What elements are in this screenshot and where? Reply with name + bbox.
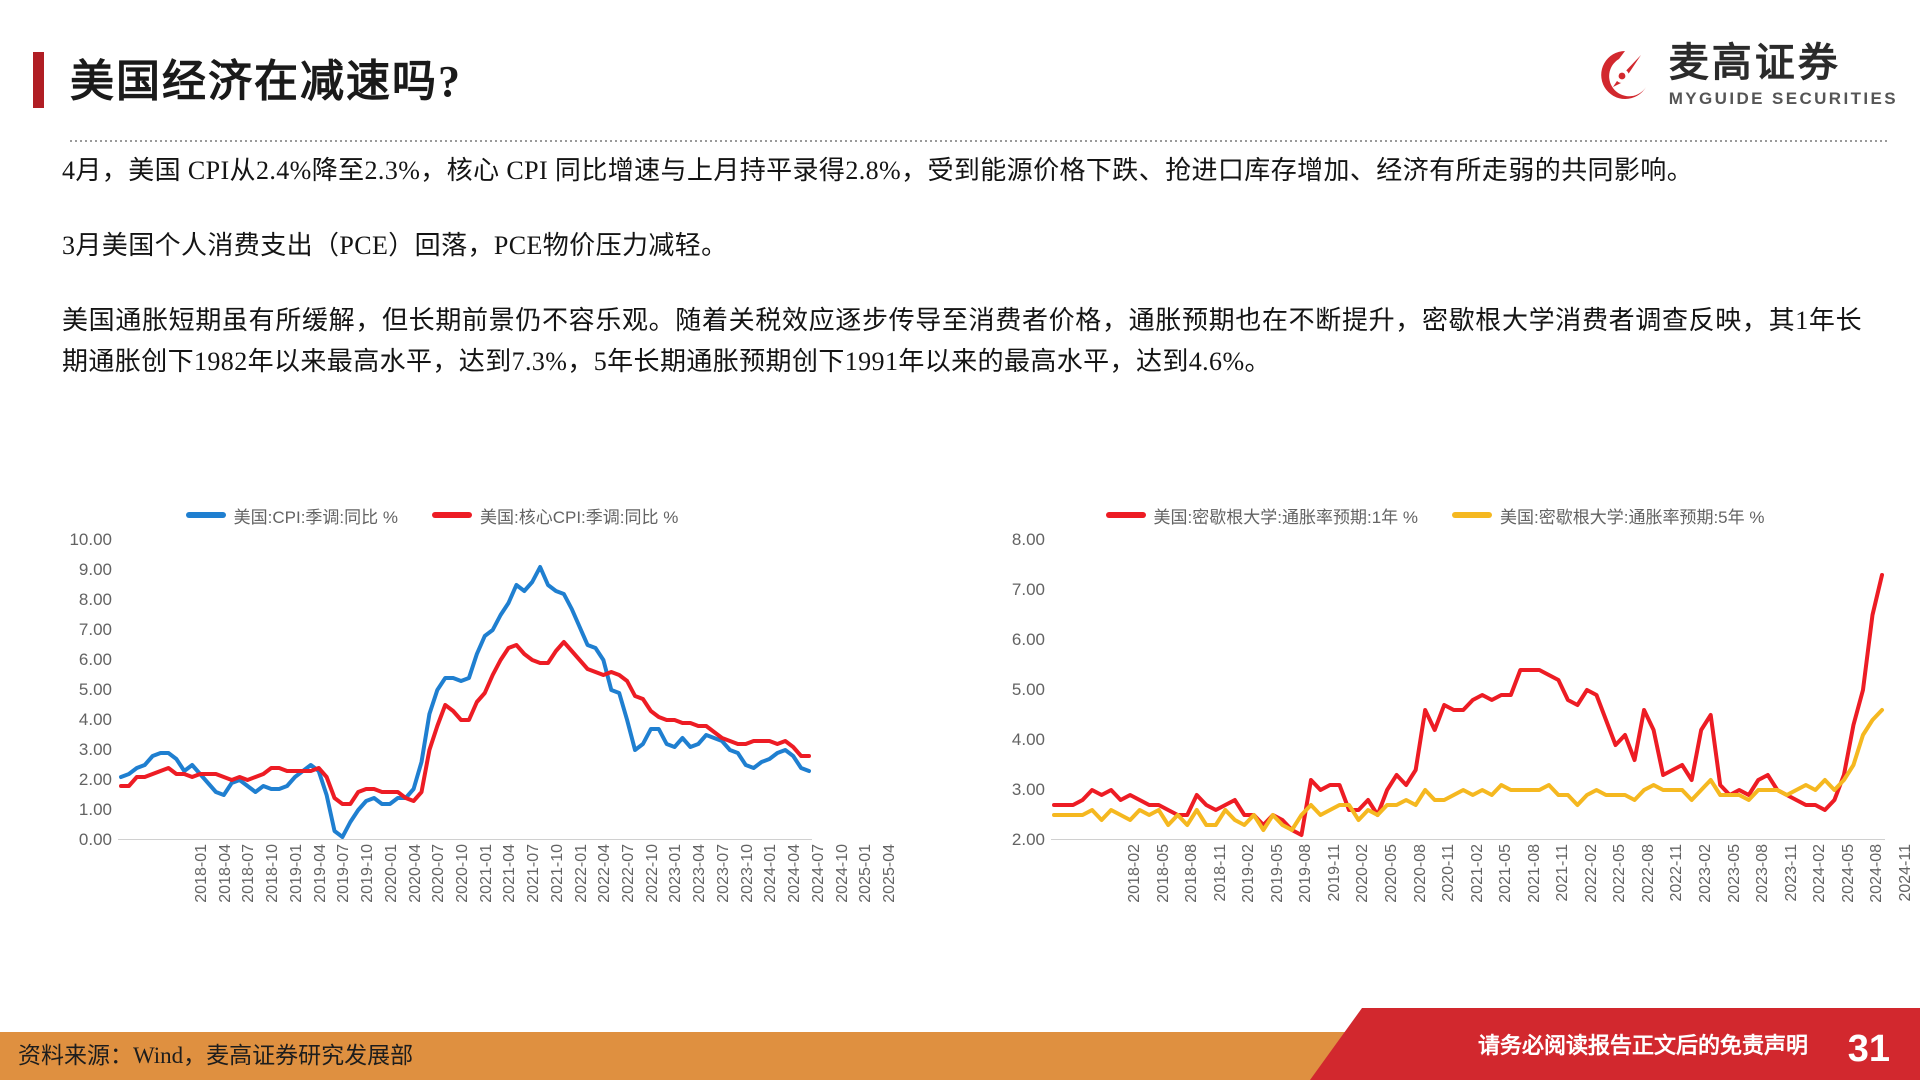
x-axis-tick-label: 2024-05 xyxy=(1840,844,1858,903)
paragraph-pce: 3月美国个人消费支出（PCE）回落，PCE物价压力减轻。 xyxy=(62,225,1862,266)
y-axis-tick-label: 7.00 xyxy=(79,620,112,640)
y-axis-tick-label: 3.00 xyxy=(79,740,112,760)
y-axis-tick-label: 5.00 xyxy=(79,680,112,700)
legend-swatch-icon xyxy=(1452,512,1492,518)
x-axis-tick-label: 2019-10 xyxy=(359,844,377,903)
legend-item[interactable]: 美国:密歇根大学:通胀率预期:5年 % xyxy=(1452,503,1764,528)
page-title: 美国经济在减速吗? xyxy=(70,45,462,109)
x-axis-tick-label: 2023-07 xyxy=(715,844,733,903)
x-axis-tick-label: 2024-01 xyxy=(762,844,780,903)
x-axis-tick-label: 2018-10 xyxy=(264,844,282,903)
logo-name-en: MYGUIDE SECURITIES xyxy=(1669,90,1898,107)
y-axis-tick-label: 1.00 xyxy=(79,800,112,820)
x-axis-tick-label: 2019-05 xyxy=(1269,844,1287,903)
title-accent-bar xyxy=(33,52,44,108)
x-axis-tick-label: 2024-07 xyxy=(810,844,828,903)
y-axis-tick-label: 2.00 xyxy=(1012,830,1045,850)
x-axis-tick-label: 2021-08 xyxy=(1526,844,1544,903)
y-axis-tick-label: 4.00 xyxy=(1012,730,1045,750)
x-axis-tick-label: 2018-05 xyxy=(1155,844,1173,903)
series-line xyxy=(121,642,809,804)
legend-item[interactable]: 美国:密歇根大学:通胀率预期:1年 % xyxy=(1106,503,1418,528)
x-axis-tick-label: 2019-11 xyxy=(1326,844,1344,902)
y-axis-tick-label: 5.00 xyxy=(1012,680,1045,700)
chart-michigan-lines xyxy=(1051,540,1885,840)
x-axis-tick-label: 2018-04 xyxy=(217,844,235,903)
chart-cpi-y-axis: 10.009.008.007.006.005.004.003.002.001.0… xyxy=(52,540,118,840)
x-axis-tick-label: 2021-07 xyxy=(525,844,543,903)
x-axis-tick-label: 2020-11 xyxy=(1440,844,1458,902)
x-axis-tick-label: 2022-08 xyxy=(1640,844,1658,903)
chart-cpi-lines xyxy=(118,540,812,840)
chart-michigan-y-axis: 8.007.006.005.004.003.002.00 xyxy=(985,540,1051,840)
x-axis-tick-label: 2022-04 xyxy=(596,844,614,903)
logo-name-cn: 麦高证券 xyxy=(1669,43,1898,83)
x-axis-tick-label: 2021-01 xyxy=(478,844,496,903)
y-axis-tick-label: 6.00 xyxy=(79,650,112,670)
page-number: 31 xyxy=(1848,1028,1890,1071)
chart-cpi-x-axis: 2018-012018-042018-072018-102019-012019-… xyxy=(184,840,878,960)
x-axis-tick-label: 2022-01 xyxy=(573,844,591,903)
x-axis-tick-label: 2020-01 xyxy=(383,844,401,903)
x-axis-tick-label: 2022-11 xyxy=(1668,844,1686,902)
y-axis-tick-label: 10.00 xyxy=(69,530,112,550)
x-axis-tick-label: 2021-04 xyxy=(501,844,519,903)
legend-label: 美国:CPI:季调:同比 % xyxy=(234,503,398,528)
x-axis-tick-label: 2020-07 xyxy=(430,844,448,903)
legend-label: 美国:密歇根大学:通胀率预期:1年 % xyxy=(1154,503,1418,528)
slide-footer: 资料来源：Wind，麦高证券研究发展部 请务必阅读报告正文后的免责声明 31 xyxy=(0,1022,1920,1080)
x-axis-tick-label: 2021-10 xyxy=(549,844,567,903)
x-axis-tick-label: 2025-01 xyxy=(857,844,875,903)
x-axis-tick-label: 2023-10 xyxy=(739,844,757,903)
slide: 美国经济在减速吗? 麦高证券 MYGUIDE SECURITIES 4月，美国 … xyxy=(0,0,1920,1080)
x-axis-tick-label: 2019-02 xyxy=(1240,844,1258,903)
header-divider xyxy=(70,140,1890,142)
x-axis-tick-label: 2019-04 xyxy=(312,844,330,903)
x-axis-tick-label: 2024-02 xyxy=(1811,844,1829,903)
x-axis-tick-label: 2023-01 xyxy=(667,844,685,903)
chart-michigan-legend: 美国:密歇根大学:通胀率预期:1年 %美国:密歇根大学:通胀率预期:5年 % xyxy=(985,498,1885,532)
x-axis-tick-label: 2025-04 xyxy=(881,844,899,903)
y-axis-tick-label: 9.00 xyxy=(79,560,112,580)
x-axis-tick-label: 2023-11 xyxy=(1783,844,1801,902)
y-axis-tick-label: 3.00 xyxy=(1012,780,1045,800)
x-axis-tick-label: 2022-05 xyxy=(1611,844,1629,903)
x-axis-tick-label: 2020-04 xyxy=(407,844,425,903)
x-axis-tick-label: 2023-04 xyxy=(691,844,709,903)
y-axis-tick-label: 8.00 xyxy=(1012,530,1045,550)
y-axis-tick-label: 7.00 xyxy=(1012,580,1045,600)
y-axis-tick-label: 4.00 xyxy=(79,710,112,730)
slide-header: 美国经济在减速吗? 麦高证券 MYGUIDE SECURITIES xyxy=(0,0,1920,148)
logo-text: 麦高证券 MYGUIDE SECURITIES xyxy=(1669,43,1898,107)
body-text-block: 4月，美国 CPI从2.4%降至2.3%，核心 CPI 同比增速与上月持平录得2… xyxy=(62,150,1862,382)
legend-swatch-icon xyxy=(432,512,472,518)
chart-cpi-plot: 10.009.008.007.006.005.004.003.002.001.0… xyxy=(52,540,812,840)
x-axis-tick-label: 2021-11 xyxy=(1554,844,1572,902)
legend-item[interactable]: 美国:CPI:季调:同比 % xyxy=(186,503,398,528)
myguide-swirl-icon xyxy=(1595,45,1655,105)
x-axis-tick-label: 2022-07 xyxy=(620,844,638,903)
chart-michigan-plot: 8.007.006.005.004.003.002.00 xyxy=(985,540,1885,840)
paragraph-cpi: 4月，美国 CPI从2.4%降至2.3%，核心 CPI 同比增速与上月持平录得2… xyxy=(62,150,1862,191)
y-axis-tick-label: 8.00 xyxy=(79,590,112,610)
x-axis-tick-label: 2018-02 xyxy=(1126,844,1144,903)
x-axis-tick-label: 2024-11 xyxy=(1897,844,1915,902)
x-axis-tick-label: 2020-10 xyxy=(454,844,472,903)
x-axis-tick-label: 2019-01 xyxy=(288,844,306,903)
legend-swatch-icon xyxy=(1106,512,1146,518)
x-axis-tick-label: 2019-08 xyxy=(1297,844,1315,903)
company-logo: 麦高证券 MYGUIDE SECURITIES xyxy=(1595,43,1898,107)
y-axis-tick-label: 6.00 xyxy=(1012,630,1045,650)
x-axis-tick-label: 2023-08 xyxy=(1754,844,1772,903)
x-axis-tick-label: 2019-07 xyxy=(335,844,353,903)
chart-michigan-x-axis: 2018-022018-052018-082018-112019-022019-… xyxy=(1117,840,1920,960)
x-axis-tick-label: 2018-07 xyxy=(240,844,258,903)
legend-item[interactable]: 美国:核心CPI:季调:同比 % xyxy=(432,503,678,528)
x-axis-tick-label: 2024-10 xyxy=(834,844,852,903)
x-axis-tick-label: 2020-02 xyxy=(1354,844,1372,903)
footer-source-text: 资料来源：Wind，麦高证券研究发展部 xyxy=(18,1036,413,1070)
x-axis-tick-label: 2018-11 xyxy=(1212,844,1230,902)
series-line xyxy=(1054,710,1882,830)
legend-swatch-icon xyxy=(186,512,226,518)
series-line xyxy=(1054,575,1882,835)
y-axis-tick-label: 2.00 xyxy=(79,770,112,790)
series-line xyxy=(121,567,809,837)
x-axis-tick-label: 2023-02 xyxy=(1697,844,1715,903)
x-axis-tick-label: 2022-02 xyxy=(1583,844,1601,903)
x-axis-tick-label: 2020-05 xyxy=(1383,844,1401,903)
x-axis-tick-label: 2018-01 xyxy=(193,844,211,903)
x-axis-tick-label: 2023-05 xyxy=(1726,844,1744,903)
y-axis-tick-label: 0.00 xyxy=(79,830,112,850)
chart-cpi-legend: 美国:CPI:季调:同比 %美国:核心CPI:季调:同比 % xyxy=(52,498,812,532)
paragraph-inflation-expectations: 美国通胀短期虽有所缓解，但长期前景仍不容乐观。随着关税效应逐步传导至消费者价格，… xyxy=(62,300,1862,382)
x-axis-tick-label: 2024-04 xyxy=(786,844,804,903)
footer-disclaimer-text: 请务必阅读报告正文后的免责声明 xyxy=(1478,1028,1808,1060)
x-axis-tick-label: 2021-05 xyxy=(1497,844,1515,903)
x-axis-tick-label: 2022-10 xyxy=(644,844,662,903)
x-axis-tick-label: 2021-02 xyxy=(1469,844,1487,903)
x-axis-tick-label: 2018-08 xyxy=(1183,844,1201,903)
x-axis-tick-label: 2020-08 xyxy=(1412,844,1430,903)
chart-cpi: 美国:CPI:季调:同比 %美国:核心CPI:季调:同比 % 10.009.00… xyxy=(52,498,812,1038)
chart-michigan: 美国:密歇根大学:通胀率预期:1年 %美国:密歇根大学:通胀率预期:5年 % 8… xyxy=(985,498,1885,1038)
legend-label: 美国:核心CPI:季调:同比 % xyxy=(480,503,678,528)
x-axis-tick-label: 2024-08 xyxy=(1868,844,1886,903)
legend-label: 美国:密歇根大学:通胀率预期:5年 % xyxy=(1500,503,1764,528)
